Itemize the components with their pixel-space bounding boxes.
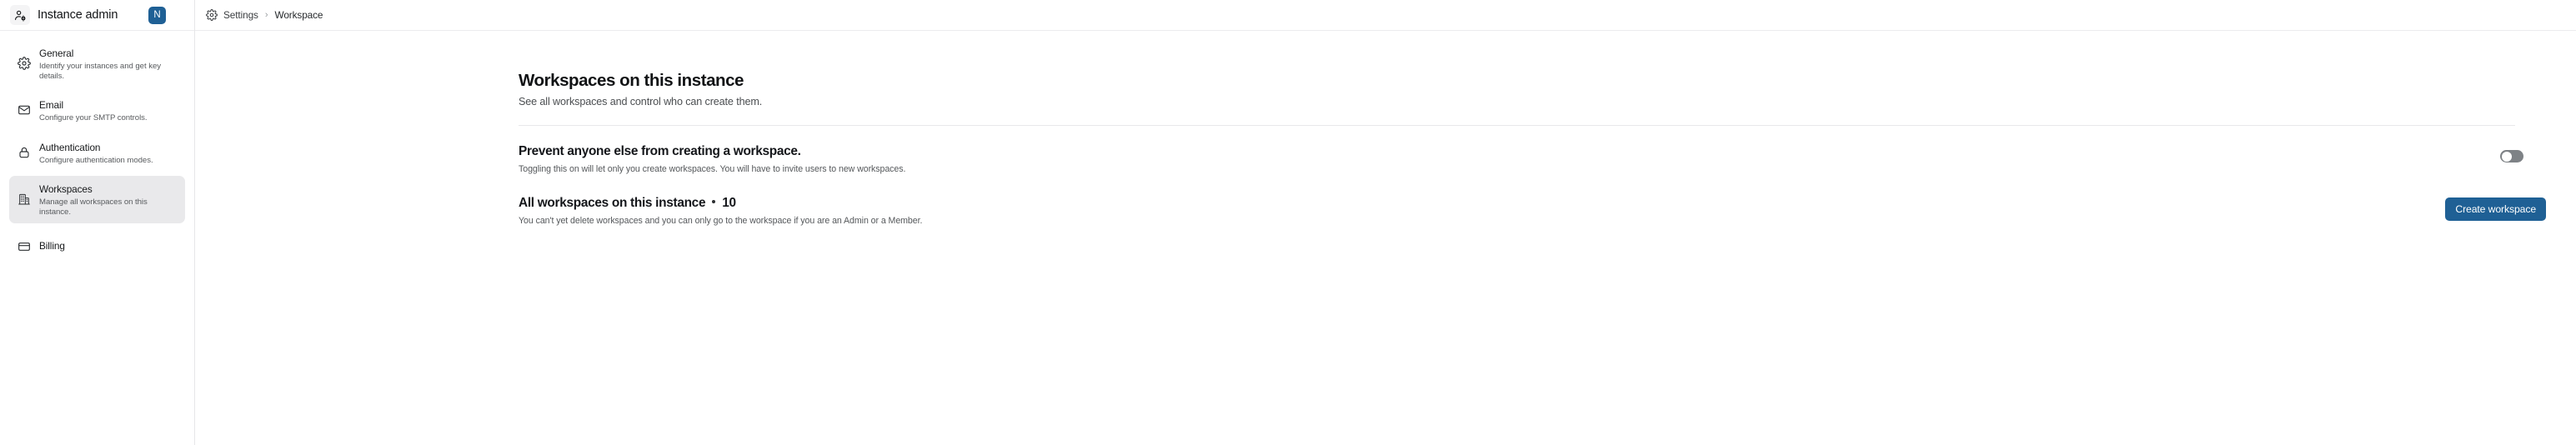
user-gear-icon xyxy=(10,5,30,25)
sidebar-item-label: Workspaces xyxy=(39,183,93,195)
prevent-creation-description: Toggling this on will let only you creat… xyxy=(519,164,2500,174)
sidebar-item-description: Manage all workspaces on this instance. xyxy=(39,197,178,217)
admin-title: Instance admin xyxy=(38,8,118,22)
chevron-right-icon: › xyxy=(264,11,269,20)
sidebar-item-label: Email xyxy=(39,99,63,111)
page-subtitle: See all workspaces and control who can c… xyxy=(519,96,2546,107)
sidebar-item-label: General xyxy=(39,47,73,59)
main-content: Settings › Workspace Workspaces on this … xyxy=(195,0,2576,445)
building-icon xyxy=(17,192,31,206)
breadcrumb: Settings › Workspace xyxy=(195,0,2576,31)
workspace-count: 10 xyxy=(722,196,736,211)
gear-icon xyxy=(206,9,218,21)
all-workspaces-row: All workspaces on this instance 10 You c… xyxy=(519,195,2546,226)
sidebar-item-billing[interactable]: Billing xyxy=(9,228,185,265)
sidebar-header: Instance admin N xyxy=(0,0,194,31)
all-workspaces-title: All workspaces on this instance xyxy=(519,195,705,212)
sidebar: Instance admin N General Identify your i… xyxy=(0,0,195,445)
card-icon xyxy=(17,240,31,253)
prevent-creation-title: Prevent anyone else from creating a work… xyxy=(519,143,2500,160)
sidebar-item-label: Authentication xyxy=(39,142,100,153)
sidebar-item-authentication[interactable]: Authentication Configure authentication … xyxy=(9,134,185,172)
breadcrumb-current: Workspace xyxy=(275,9,323,21)
instance-admin-page: Instance admin N General Identify your i… xyxy=(0,0,2576,445)
sidebar-item-general[interactable]: General Identify your instances and get … xyxy=(9,40,185,87)
sidebar-item-description: Identify your instances and get key deta… xyxy=(39,62,178,81)
create-workspace-button[interactable]: Create workspace xyxy=(2445,197,2546,221)
sidebar-item-email[interactable]: Email Configure your SMTP controls. xyxy=(9,92,185,129)
breadcrumb-settings-link[interactable]: Settings xyxy=(223,9,258,21)
toggle-knob xyxy=(2502,152,2512,162)
gear-icon xyxy=(17,57,31,70)
divider xyxy=(519,125,2515,126)
lock-icon xyxy=(17,146,31,159)
bullet-icon xyxy=(712,200,715,203)
avatar[interactable]: N xyxy=(148,7,166,24)
sidebar-item-description: Configure authentication modes. xyxy=(39,156,153,166)
envelope-icon xyxy=(17,103,31,117)
page-title: Workspaces on this instance xyxy=(519,70,2546,92)
sidebar-item-label: Billing xyxy=(39,240,65,252)
all-workspaces-description: You can't yet delete workspaces and you … xyxy=(519,216,2445,226)
sidebar-item-workspaces[interactable]: Workspaces Manage all workspaces on this… xyxy=(9,176,185,222)
sidebar-item-description: Configure your SMTP controls. xyxy=(39,113,148,123)
prevent-creation-row: Prevent anyone else from creating a work… xyxy=(519,143,2546,174)
content-area: Workspaces on this instance See all work… xyxy=(195,31,2576,226)
sidebar-nav: General Identify your instances and get … xyxy=(0,31,194,265)
prevent-creation-toggle[interactable] xyxy=(2500,150,2523,162)
